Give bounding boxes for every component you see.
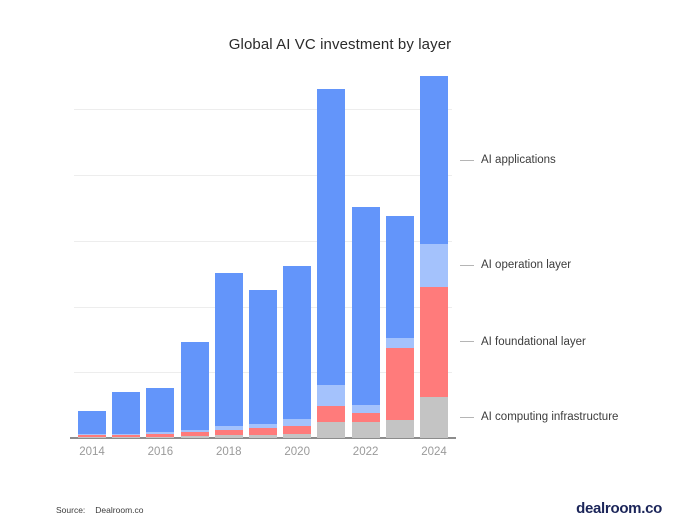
source-label: Source: (56, 505, 85, 515)
x-axis-tick-label: 2022 (336, 446, 396, 458)
bar-segment (181, 342, 209, 430)
bar-2018[interactable] (215, 273, 243, 438)
bar-segment (352, 422, 380, 438)
bar-segment (386, 348, 414, 420)
chart-container: Global AI VC investment by layer $100B80… (0, 0, 680, 528)
bar-segment (146, 437, 174, 438)
bar-segment (352, 413, 380, 421)
bar-2014[interactable] (78, 411, 106, 438)
chart-title: Global AI VC investment by layer (0, 36, 680, 53)
x-axis-tick-label: 2016 (130, 446, 190, 458)
legend-item-ai-applications[interactable]: AI applications (460, 154, 556, 166)
legend-item-ai-operation-layer[interactable]: AI operation layer (460, 259, 571, 271)
bar-2016[interactable] (146, 388, 174, 438)
bar-2017[interactable] (181, 342, 209, 438)
bar-segment (112, 392, 140, 433)
bar-segment (181, 436, 209, 438)
legend-item-ai-foundational-layer[interactable]: AI foundational layer (460, 336, 586, 348)
bar-segment (386, 338, 414, 348)
bar-segment (386, 420, 414, 438)
bar-segment (317, 385, 345, 406)
bar-segment (215, 435, 243, 438)
bar-segment (352, 405, 380, 413)
bar-segment (317, 422, 345, 438)
bar-2024[interactable] (420, 76, 448, 438)
x-axis-tick-label: 2024 (404, 446, 464, 458)
bar-segment (283, 426, 311, 434)
bar-2015[interactable] (112, 392, 140, 438)
legend-label: AI operation layer (481, 259, 571, 271)
bar-segment (249, 435, 277, 438)
bar-segment (283, 266, 311, 419)
bar-2022[interactable] (352, 207, 380, 438)
dealroom-logo: dealroom.co (576, 500, 662, 517)
legend-connector-line (460, 160, 474, 161)
footer-source: Source: Dealroom.co (56, 505, 143, 515)
bar-segment (420, 287, 448, 397)
bar-segment (386, 216, 414, 338)
bar-2021[interactable] (317, 89, 345, 438)
bar-segment (283, 434, 311, 438)
legend-label: AI foundational layer (481, 336, 586, 348)
bar-segment (78, 411, 106, 434)
bar-segment (317, 89, 345, 385)
x-axis-tick-label: 2014 (62, 446, 122, 458)
plot-area: $100B80B60B40B20B 2014201620182020202220… (74, 60, 452, 438)
bar-segment (78, 437, 106, 438)
source-value: Dealroom.co (95, 505, 143, 515)
bar-segment (317, 406, 345, 422)
bar-segment (420, 397, 448, 438)
bar-segment (420, 244, 448, 287)
bar-series-group (74, 60, 452, 438)
x-axis-tick-label: 2020 (267, 446, 327, 458)
legend-connector-line (460, 265, 474, 266)
bar-2023[interactable] (386, 216, 414, 438)
legend-label: AI computing infrastructure (481, 411, 618, 423)
bar-2020[interactable] (283, 266, 311, 438)
bar-segment (215, 273, 243, 426)
x-axis-tick-label: 2018 (199, 446, 259, 458)
legend-connector-line (460, 341, 474, 342)
bar-segment (420, 76, 448, 244)
bar-segment (352, 207, 380, 405)
bar-segment (112, 437, 140, 438)
legend-label: AI applications (481, 154, 556, 166)
bar-2019[interactable] (249, 290, 277, 438)
bar-segment (146, 388, 174, 432)
bar-segment (249, 290, 277, 423)
legend-connector-line (460, 417, 474, 418)
legend-item-ai-computing-infrastructure[interactable]: AI computing infrastructure (460, 411, 618, 423)
